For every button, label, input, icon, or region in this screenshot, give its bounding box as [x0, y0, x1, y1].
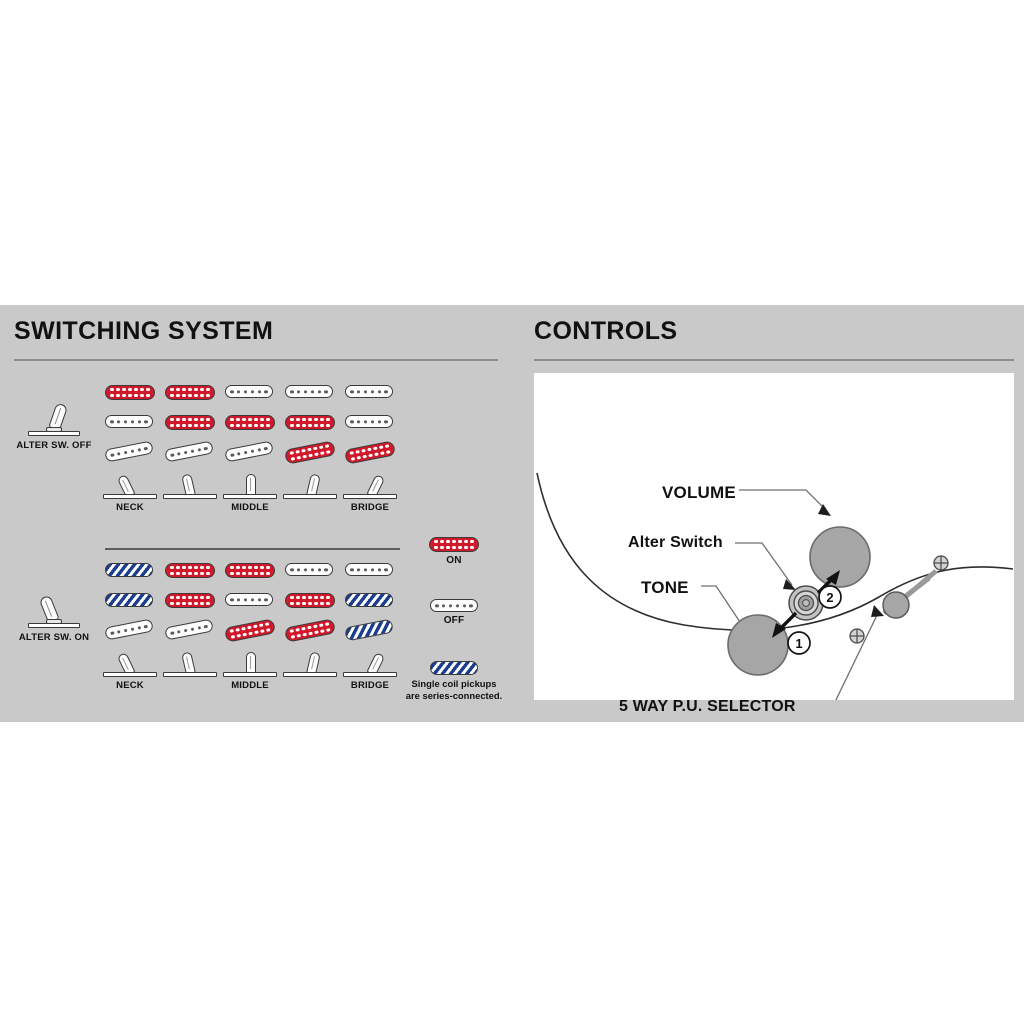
pickup-cell-middle-row-1	[105, 415, 153, 428]
legend-on-swatch	[429, 537, 479, 552]
pickup-off	[345, 415, 393, 428]
pickup-cell-neck-row-3	[225, 385, 273, 398]
pickup-cell-neck-row-5	[345, 563, 393, 576]
selector-knob	[883, 592, 909, 618]
legend-off-label: OFF	[398, 615, 510, 626]
selector-track	[223, 672, 277, 677]
pickup-cell-bridge-row-2	[165, 445, 213, 458]
pickup-cell-bridge-row-4	[285, 623, 335, 638]
toggle-switch-icon	[26, 593, 82, 631]
pickup-cell-middle-row-4	[285, 415, 335, 430]
pickup-legend: ON OFF Single coil pickups are series-co…	[398, 537, 512, 722]
selector-label: 5 WAY P.U. SELECTOR	[619, 698, 796, 716]
pickup-on	[285, 593, 335, 608]
pickup-cell-neck-row-1	[105, 385, 155, 400]
selector-lever	[246, 474, 256, 496]
selector-position-label: NECK	[100, 680, 160, 691]
pickup-cell-middle-row-2	[165, 593, 215, 608]
pickup-on	[165, 563, 215, 578]
selector-position-4[interactable]	[280, 649, 340, 680]
toggle-switch-icon	[26, 401, 82, 439]
diagram-page: SWITCHING SYSTEM ALTER SW. OFF NECKMIDDL…	[0, 0, 1024, 1024]
pickup-cell-bridge-row-5	[345, 445, 395, 460]
pickup-on	[165, 415, 215, 430]
selector-track	[103, 494, 157, 499]
pickup-cell-middle-row-2	[165, 415, 215, 430]
selector-lever-icon	[342, 649, 398, 679]
callout-2-text: 2	[826, 590, 833, 605]
alter-sw-on-label: ALTER SW. ON	[8, 632, 100, 643]
pickup-off	[104, 619, 154, 641]
selector-position-5[interactable]: BRIDGE	[340, 471, 400, 513]
selector-lever-icon	[222, 471, 278, 501]
selector-lever-icon	[282, 649, 338, 679]
selector-track	[343, 494, 397, 499]
selector-position-label: BRIDGE	[340, 680, 400, 691]
pickup-on	[224, 618, 276, 642]
selector-lever-icon	[102, 471, 158, 501]
selector-lever	[246, 652, 256, 674]
pickup-cell-neck-row-5	[345, 385, 393, 398]
alter-switch-core	[803, 600, 810, 607]
selector-lever-icon	[342, 471, 398, 501]
controls-title-rule	[534, 359, 1014, 361]
pickup-on	[105, 385, 155, 400]
pickup-cell-bridge-row-3	[225, 445, 273, 458]
pickup-off	[225, 593, 273, 606]
pickup-cell-neck-row-4	[285, 563, 333, 576]
selector-track	[223, 494, 277, 499]
selector-lever-icon	[162, 649, 218, 679]
pickup-cell-bridge-row-1	[105, 445, 153, 458]
pickup-cell-middle-row-3	[225, 593, 273, 606]
pickup-cell-neck-row-4	[285, 385, 333, 398]
pickup-off	[345, 563, 393, 576]
pickup-off	[285, 385, 333, 398]
pickup-off	[164, 441, 214, 463]
legend-series-swatch	[430, 661, 478, 675]
callout-1-text: 1	[795, 636, 802, 651]
selector-position-3[interactable]: MIDDLE	[220, 471, 280, 513]
pickup-cell-bridge-row-1	[105, 623, 153, 636]
controls-title: CONTROLS	[534, 317, 677, 346]
volume-arrowhead	[818, 504, 831, 516]
selector-position-3[interactable]: MIDDLE	[220, 649, 280, 691]
pickup-off	[104, 441, 154, 463]
tone-knob	[728, 615, 788, 675]
selector-position-2[interactable]	[160, 649, 220, 680]
pickup-cell-bridge-row-5	[345, 623, 393, 637]
pickup-cell-bridge-row-4	[285, 445, 335, 460]
switching-system-panel: SWITCHING SYSTEM ALTER SW. OFF NECKMIDDL…	[0, 305, 512, 722]
pickup-series	[105, 563, 153, 577]
selector-track	[163, 494, 217, 499]
alter-switch-label: Alter Switch	[628, 534, 723, 552]
pickup-off	[345, 385, 393, 398]
pickup-cell-bridge-row-2	[165, 623, 213, 636]
selector-track	[103, 672, 157, 677]
pickup-on	[284, 440, 336, 464]
volume-leader-line	[739, 490, 826, 510]
selector-track	[343, 672, 397, 677]
pickup-cell-neck-row-2	[165, 385, 215, 400]
legend-on-label: ON	[398, 555, 510, 566]
pickup-cell-middle-row-4	[285, 593, 335, 608]
controls-panel: CONTROLS	[512, 305, 1024, 722]
selector-position-label: MIDDLE	[220, 502, 280, 513]
legend-series: Single coil pickups are series-connected…	[398, 661, 510, 702]
selector-lever-icon	[162, 471, 218, 501]
selector-lever-icon	[282, 471, 338, 501]
legend-off: OFF	[398, 599, 510, 626]
toggle-base	[28, 623, 80, 628]
selector-position-1[interactable]: NECK	[100, 471, 160, 513]
volume-knob	[810, 527, 870, 587]
pickup-cell-neck-row-1	[105, 563, 153, 577]
selector-positions-on: NECKMIDDLEBRIDGE	[105, 649, 405, 695]
pickup-series	[105, 593, 153, 607]
pickup-cell-middle-row-5	[345, 593, 393, 607]
alter-sw-on-indicator: ALTER SW. ON	[8, 593, 100, 643]
selector-position-label: MIDDLE	[220, 680, 280, 691]
switching-title-rule	[14, 359, 498, 361]
selector-position-5[interactable]: BRIDGE	[340, 649, 400, 691]
legend-series-note-line1: Single coil pickups	[398, 678, 510, 690]
alter-switch-leader-line	[735, 543, 792, 585]
toggle-base	[28, 431, 80, 436]
pickup-off	[105, 415, 153, 428]
pickup-on	[285, 415, 335, 430]
pickup-cell-middle-row-3	[225, 415, 275, 430]
pickup-cell-bridge-row-3	[225, 623, 275, 638]
pickup-on	[225, 415, 275, 430]
selector-screw-top	[934, 556, 948, 570]
controls-illustration: 1 2	[534, 373, 1014, 700]
volume-label: VOLUME	[662, 483, 736, 503]
pickup-cell-middle-row-5	[345, 415, 393, 428]
selector-position-label: BRIDGE	[340, 502, 400, 513]
pickup-off	[224, 441, 274, 463]
alter-sw-off-indicator: ALTER SW. OFF	[8, 401, 100, 451]
legend-on: ON	[398, 537, 510, 566]
pickup-off	[225, 385, 273, 398]
selector-track	[283, 494, 337, 499]
selector-track	[163, 672, 217, 677]
pickup-series	[344, 619, 394, 642]
group-divider-rule	[105, 548, 400, 550]
selector-lever-icon	[102, 649, 158, 679]
pickup-cell-middle-row-1	[105, 593, 153, 607]
selector-track	[283, 672, 337, 677]
pickup-on	[225, 563, 275, 578]
controls-diagram-svg: 1 2	[534, 373, 1014, 700]
pickup-cell-neck-row-3	[225, 563, 275, 578]
switching-system-title: SWITCHING SYSTEM	[14, 317, 273, 346]
selector-position-4[interactable]	[280, 471, 340, 502]
alter-sw-off-group: ALTER SW. OFF NECKMIDDLEBRIDGE	[0, 385, 512, 535]
pickup-matrix-on	[105, 563, 405, 663]
tone-label: TONE	[641, 578, 689, 598]
pickup-on	[165, 593, 215, 608]
legend-off-swatch	[430, 599, 478, 612]
selector-arrowhead	[871, 605, 884, 617]
selector-screw-bottom	[850, 629, 864, 643]
pickup-off	[164, 619, 214, 641]
selector-position-2[interactable]	[160, 471, 220, 502]
selector-position-1[interactable]: NECK	[100, 649, 160, 691]
pickup-cell-neck-row-2	[165, 563, 215, 578]
pickup-on	[165, 385, 215, 400]
guitar-body-contour	[537, 473, 1013, 630]
selector-lever-icon	[222, 649, 278, 679]
legend-series-note-line2: are series-connected.	[398, 690, 510, 702]
alter-sw-off-label: ALTER SW. OFF	[8, 440, 100, 451]
pickup-on	[284, 618, 336, 642]
pickup-off	[285, 563, 333, 576]
pickup-on	[344, 440, 396, 464]
selector-leader-line	[799, 611, 879, 700]
selector-position-label: NECK	[100, 502, 160, 513]
selector-positions-off: NECKMIDDLEBRIDGE	[105, 471, 405, 517]
pickup-series	[345, 593, 393, 607]
pickup-matrix-off	[105, 385, 405, 485]
